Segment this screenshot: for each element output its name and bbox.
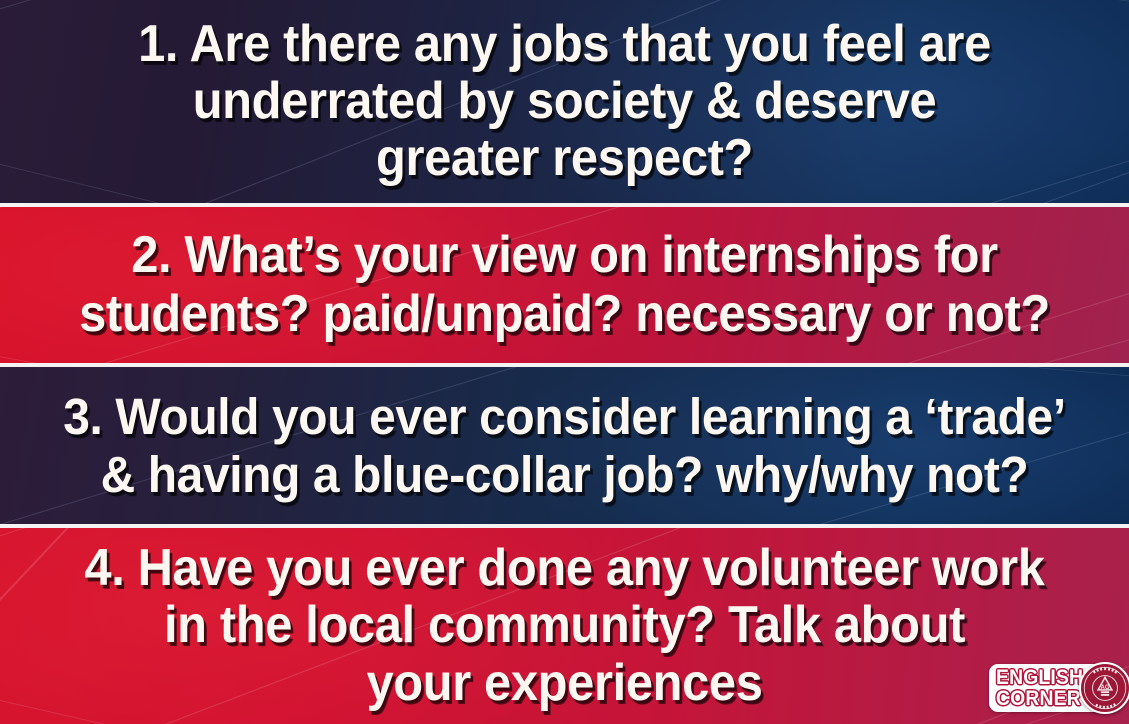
panel-divider-1 xyxy=(0,203,1129,207)
question-line: your experiences xyxy=(47,655,1082,712)
question-panel-3: 3. Would you ever consider learning a ‘t… xyxy=(0,367,1129,524)
panel-divider-2 xyxy=(0,363,1129,367)
svg-text:AG: AG xyxy=(1101,685,1110,691)
question-line: greater respect? xyxy=(47,130,1082,187)
question-line: underrated by society & deserve xyxy=(47,73,1082,130)
question-line: students? paid/unpaid? necessary or not? xyxy=(47,285,1082,344)
question-text-4: 4. Have you ever done any volunteer work… xyxy=(34,540,1095,712)
question-line: 4. Have you ever done any volunteer work xyxy=(47,540,1082,597)
university-seal-icon: AG xyxy=(1079,662,1129,714)
question-line: 3. Would you ever consider learning a ‘t… xyxy=(47,388,1082,446)
question-text-1: 1. Are there any jobs that you feel are … xyxy=(34,16,1095,188)
question-line: 2. What’s your view on internships for xyxy=(47,226,1082,285)
question-line: & having a blue-collar job? why/why not? xyxy=(47,446,1082,504)
question-line: 1. Are there any jobs that you feel are xyxy=(47,16,1082,73)
question-panel-2: 2. What’s your view on internships for s… xyxy=(0,207,1129,363)
question-text-2: 2. What’s your view on internships for s… xyxy=(34,226,1095,344)
question-text-3: 3. Would you ever consider learning a ‘t… xyxy=(34,388,1095,503)
brand-logo[interactable]: ENGLISH CORNER xyxy=(989,656,1121,720)
logo-badge: ENGLISH CORNER xyxy=(989,664,1121,712)
panel-divider-3 xyxy=(0,524,1129,528)
question-panel-1: 1. Are there any jobs that you feel are … xyxy=(0,0,1129,203)
question-line: in the local community? Talk about xyxy=(47,597,1082,654)
logo-line-english: ENGLISH xyxy=(996,667,1083,688)
logo-line-corner: CORNER xyxy=(996,688,1083,709)
question-panel-4: 4. Have you ever done any volunteer work… xyxy=(0,528,1129,724)
poster-root: 1. Are there any jobs that you feel are … xyxy=(0,0,1129,724)
